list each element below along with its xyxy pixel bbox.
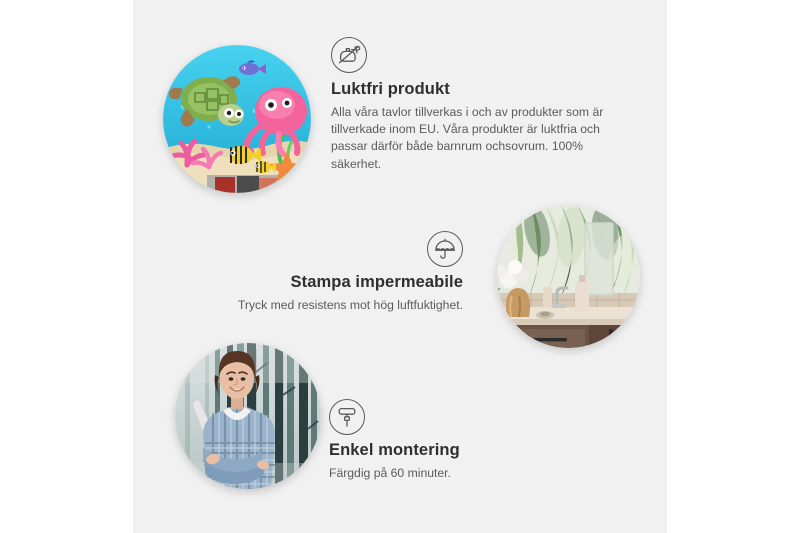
photo-underwater-cartoon-mural — [163, 45, 311, 193]
feature-title: Stampa impermeabile — [214, 273, 463, 293]
no-fragrance-icon — [331, 37, 367, 73]
photo-bathroom-botanical-wallpaper — [497, 205, 640, 348]
feature-title: Enkel montering — [329, 441, 589, 461]
feature-body: Tryck med resistens mot hög luftfuktighe… — [214, 297, 463, 314]
promo-canvas: Luktfri produkt Alla våra tavlor tillver… — [0, 0, 800, 533]
feature-block-easy-mounting: Enkel montering Färgdig på 60 minuter. — [329, 399, 589, 482]
feature-block-waterproof: Stampa impermeabile Tryck med resistens … — [214, 231, 463, 314]
feature-body: Färgdig på 60 minuter. — [329, 465, 589, 482]
photo-woman-with-paint-roller-forest-wallpaper — [175, 343, 321, 489]
feature-block-odourless: Luktfri produkt Alla våra tavlor tillver… — [331, 37, 628, 173]
paint-roller-icon — [329, 399, 365, 435]
feature-title: Luktfri produkt — [331, 80, 628, 100]
umbrella-icon — [427, 231, 463, 267]
feature-body: Alla våra tavlor tillverkas i och av pro… — [331, 104, 628, 173]
